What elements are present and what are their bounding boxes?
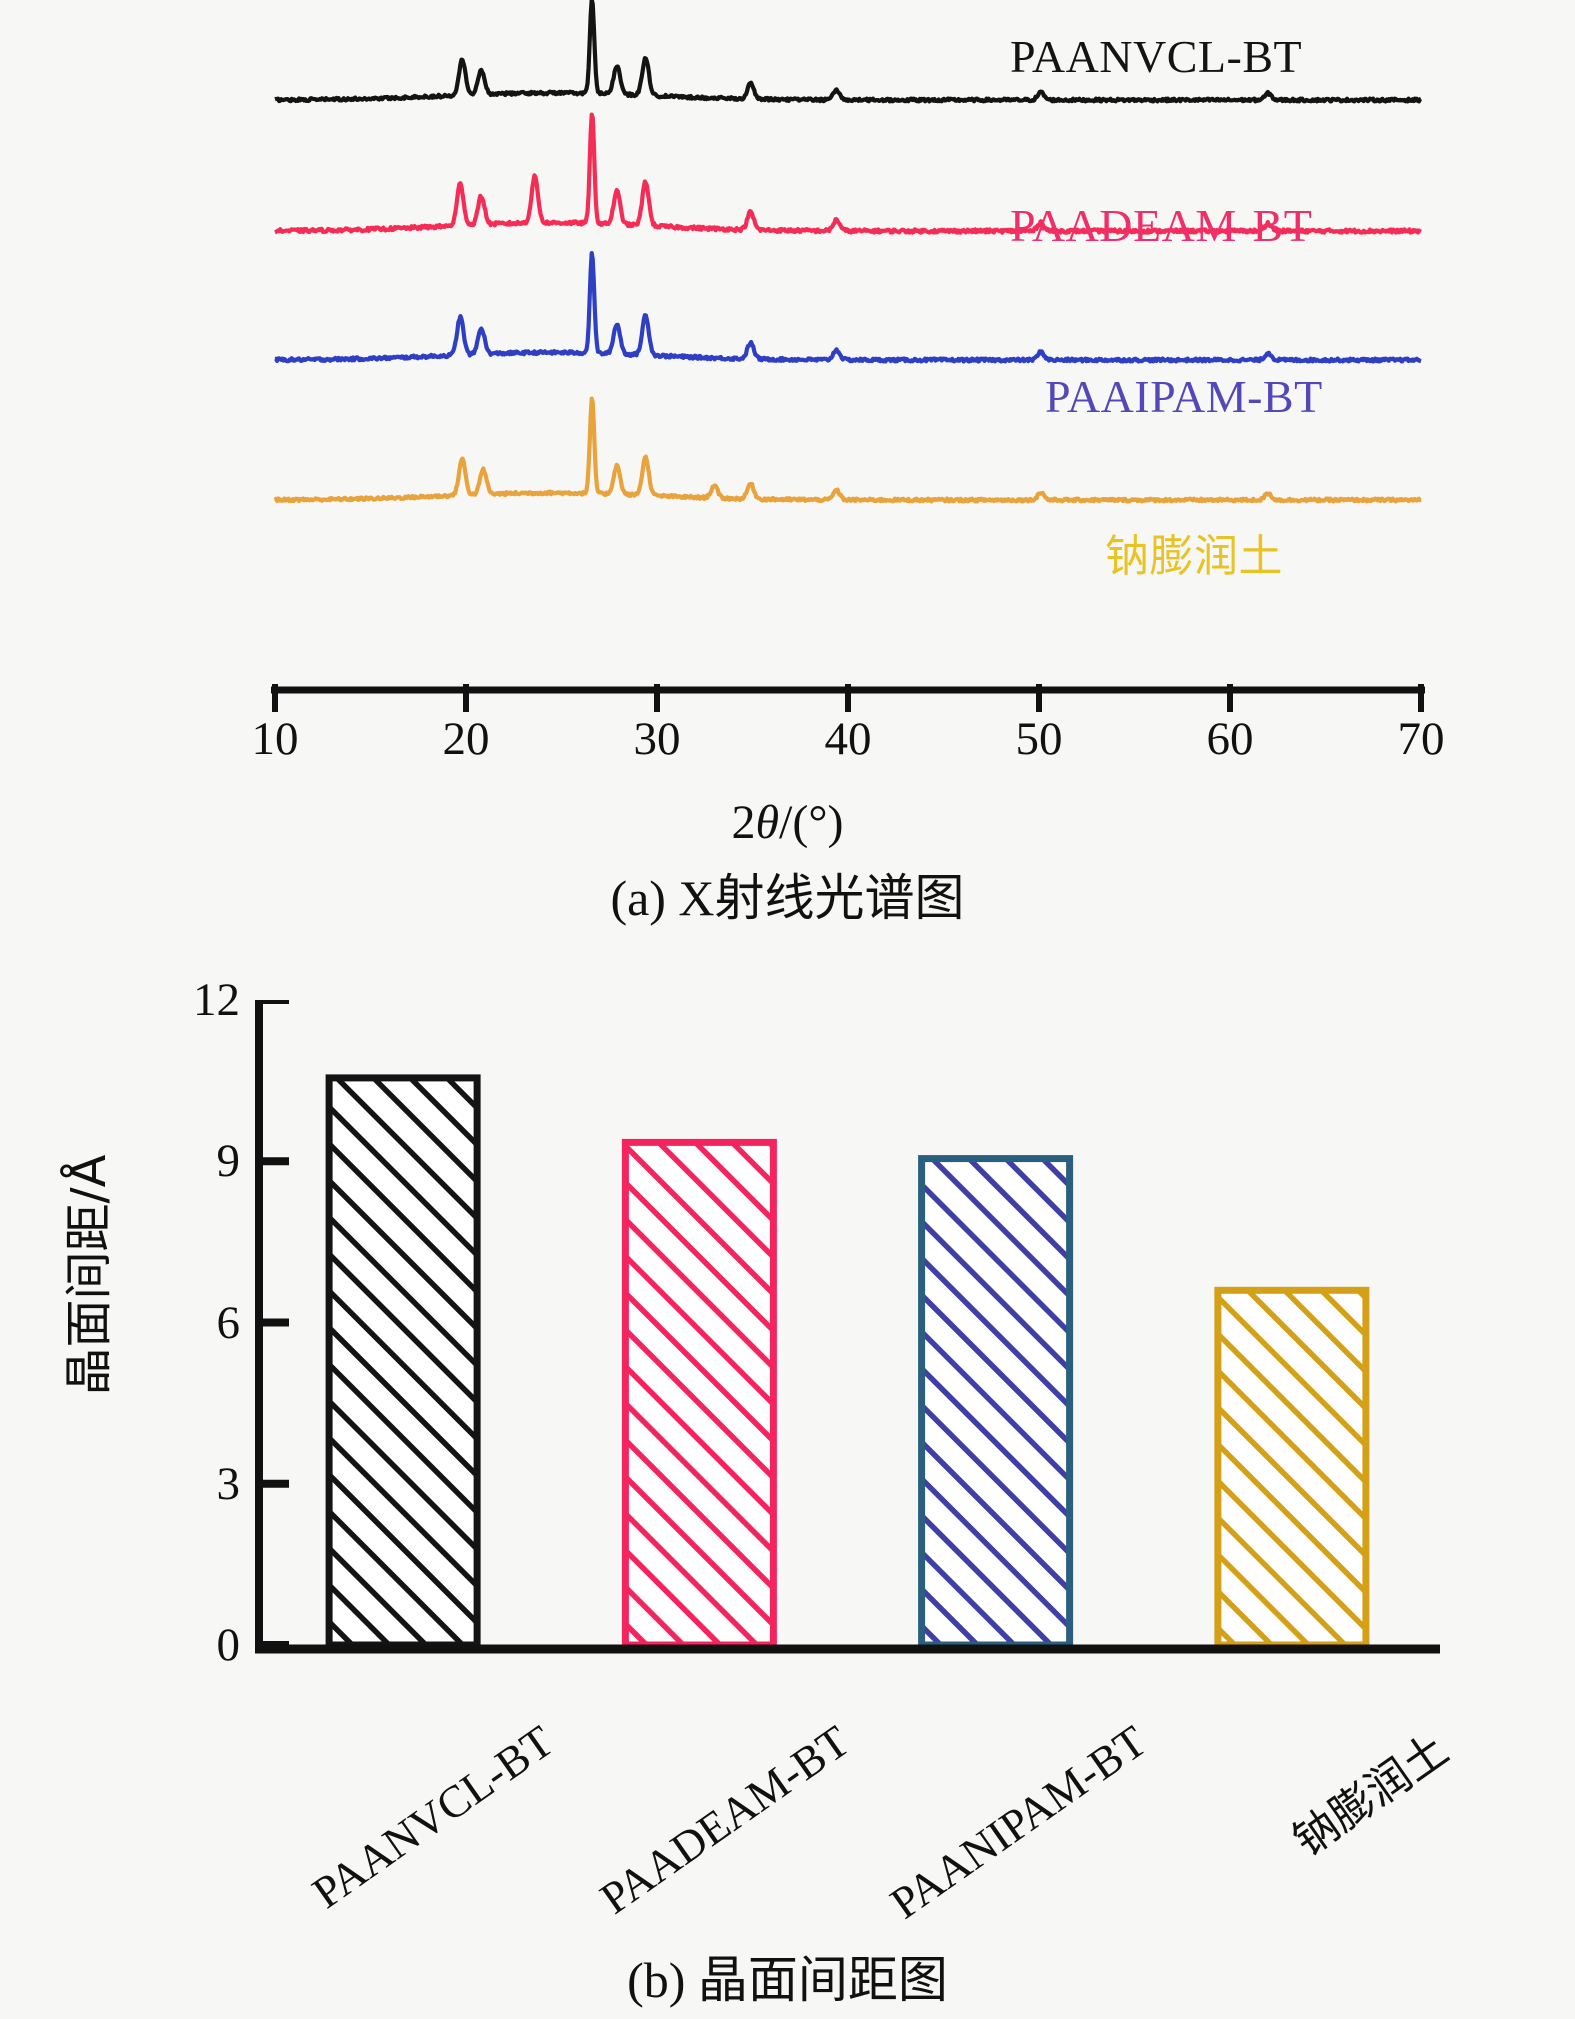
bar-y-tick-label: 12	[120, 973, 240, 1027]
xrd-x-tick-labels: 10203040506070	[268, 712, 1428, 772]
curve-label-paanvcl: PAANVCL-BT	[1010, 34, 1302, 80]
xrd-plot-area	[268, 0, 1428, 690]
xrd-curves	[268, 0, 1428, 690]
theta-symbol: θ	[755, 796, 779, 849]
bar-y-tick-label: 0	[120, 1618, 240, 1672]
curve-label-bentonite: 钠膨润土	[1105, 535, 1283, 579]
x-tick-label: 60	[1207, 712, 1254, 766]
bar-y-tick-label: 9	[120, 1134, 240, 1188]
bar-y-axis-title: 晶面间距/Å	[49, 995, 119, 1555]
xrd-x-axis-title-text: 2	[731, 796, 755, 849]
bar-category-label-1: PAANVCL-BT	[303, 1715, 563, 1919]
caption-panel-b: (b) 晶面间距图	[0, 1940, 1575, 2012]
x-tick-label: 70	[1398, 712, 1445, 766]
bar-2[interactable]	[625, 1142, 773, 1645]
bar-chart-svg	[255, 1000, 1455, 1712]
bar-y-tick-labels: 129630	[120, 1000, 240, 1712]
bar-category-label-2: PAADEAM-BT	[591, 1715, 859, 1924]
xrd-x-axis-units: /(°)	[779, 796, 844, 849]
bar-category-labels: PAANVCL-BTPAADEAM-BTPAANIPAM-BT钠膨润土	[255, 1715, 1455, 1925]
caption-panel-a: (a) X射线光谱图	[0, 858, 1575, 930]
bar-y-tick-label: 3	[120, 1457, 240, 1511]
panel-b-spacing: 晶面间距/Å 129630 PAANVCL-BTPAADEAM-BTPAANIP…	[0, 940, 1575, 2019]
x-tick-label: 10	[252, 712, 299, 766]
x-tick-label: 30	[634, 712, 681, 766]
x-tick-label: 40	[825, 712, 872, 766]
bar-3[interactable]	[922, 1159, 1070, 1645]
panel-a-xrd: PAANVCL-BT PAADEAM-BT PAAIPAM-BT 钠膨润土 10…	[0, 0, 1575, 935]
bar-category-label-3: PAANIPAM-BT	[880, 1715, 1155, 1929]
figure-root: PAANVCL-BT PAADEAM-BT PAAIPAM-BT 钠膨润土 10…	[0, 0, 1575, 2019]
x-tick-label: 20	[443, 712, 490, 766]
bar-category-label-4: 钠膨润土	[1278, 1715, 1459, 1868]
x-tick-label: 50	[1016, 712, 1063, 766]
xrd-curve-3	[275, 253, 1421, 361]
bar-4[interactable]	[1218, 1290, 1366, 1645]
xrd-x-axis-title: 2θ/(°)	[0, 795, 1575, 850]
curve-label-paaipam: PAAIPAM-BT	[1045, 374, 1323, 420]
xrd-x-axis	[268, 684, 1428, 714]
curve-label-paadeam: PAADEAM-BT	[1010, 203, 1312, 249]
bar-1[interactable]	[329, 1078, 477, 1645]
bar-plot-area	[255, 1000, 1455, 1712]
bar-y-tick-label: 6	[120, 1296, 240, 1350]
